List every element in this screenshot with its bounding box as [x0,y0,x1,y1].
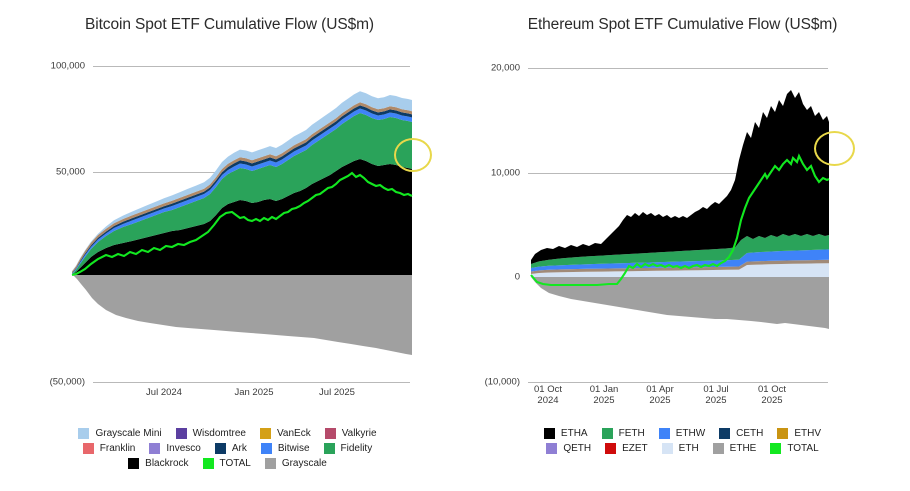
legend-label: ETH [679,443,699,454]
legend-item-ethv[interactable]: ETHV [777,428,821,439]
legend-item-bitwise[interactable]: Bitwise [261,443,310,454]
legend-label: Grayscale Mini [95,428,161,439]
legend-row: Blackrock TOTAL Grayscale [0,458,455,469]
legend-swatch-icon [713,443,724,454]
legend-label: ETHA [561,428,588,439]
x-tick-label: 01 Apr 2025 [646,384,673,406]
x-tick-label: Jul 2025 [319,387,355,398]
legend-label: ETHV [794,428,821,439]
legend-item-ark[interactable]: Ark [215,443,247,454]
legend-item-blackrock[interactable]: Blackrock [128,458,188,469]
legend-swatch-icon [605,443,616,454]
legend-swatch-icon [149,443,160,454]
legend-label: ETHW [676,428,705,439]
legend-label: EZET [622,443,648,454]
legend-item-valkyrie[interactable]: Valkyrie [325,428,377,439]
legend-item-eth[interactable]: ETH [662,443,699,454]
legend-swatch-icon [78,428,89,439]
legend-item-grayscale[interactable]: Grayscale [265,458,327,469]
legend-item-wisdomtree[interactable]: Wisdomtree [176,428,246,439]
legend-swatch-icon [128,458,139,469]
legend-swatch-icon [261,443,272,454]
legend-label: QETH [563,443,591,454]
legend-label: Franklin [100,443,136,454]
legend-row: Grayscale Mini Wisdomtree VanEck Valkyri… [0,428,455,439]
legend-item-ezet[interactable]: EZET [605,443,648,454]
page-title-ethereum: Ethereum Spot ETF Cumulative Flow (US$m) [455,16,910,34]
legend-swatch-icon [544,428,555,439]
legend-label: ETHE [730,443,757,454]
legend-item-qeth[interactable]: QETH [546,443,591,454]
legend-label: Invesco [166,443,200,454]
legend-swatch-icon [83,443,94,454]
legend-swatch-icon [659,428,670,439]
legend-item-fidelity[interactable]: Fidelity [324,443,373,454]
legend-swatch-icon [602,428,613,439]
legend-bitcoin: Grayscale Mini Wisdomtree VanEck Valkyri… [0,428,455,473]
legend-swatch-icon [203,458,214,469]
x-tick-label: Jul 2024 [146,387,182,398]
legend-swatch-icon [324,443,335,454]
legend-swatch-icon [176,428,187,439]
legend-label: Grayscale [282,458,327,469]
legend-item-vaneck[interactable]: VanEck [260,428,311,439]
x-tick-label: 01 Oct 2025 [758,384,786,406]
legend-label: Wisdomtree [193,428,246,439]
dashboard-root: Bitcoin Spot ETF Cumulative Flow (US$m) … [0,0,910,491]
legend-label: Blackrock [145,458,188,469]
legend-label: TOTAL [220,458,251,469]
legend-label: Valkyrie [342,428,377,439]
legend-swatch-icon [546,443,557,454]
legend-swatch-icon [662,443,673,454]
legend-label: VanEck [277,428,311,439]
legend-row: Franklin Invesco Ark Bitwise Fidelity [0,443,455,454]
legend-label: CETH [736,428,763,439]
legend-item-feth[interactable]: FETH [602,428,645,439]
legend-item-etha[interactable]: ETHA [544,428,588,439]
legend-item-total[interactable]: TOTAL [770,443,818,454]
highlight-circle-icon [394,138,432,172]
legend-row: QETH EZET ETH ETHE TOTAL [455,443,910,454]
x-tick-label: 01 Jul 2025 [703,384,728,406]
legend-item-grayscale-mini[interactable]: Grayscale Mini [78,428,161,439]
area-chart-ethereum [503,60,831,390]
chart-panel-ethereum: Ethereum Spot ETF Cumulative Flow (US$m)… [455,0,910,491]
area-chart-bitcoin [68,60,413,390]
legend-swatch-icon [215,443,226,454]
legend-ethereum: ETHA FETH ETHW CETH ETHV [455,428,910,458]
page-title-bitcoin: Bitcoin Spot ETF Cumulative Flow (US$m) [0,16,455,34]
legend-item-total[interactable]: TOTAL [203,458,251,469]
legend-row: ETHA FETH ETHW CETH ETHV [455,428,910,439]
legend-label: FETH [619,428,645,439]
legend-swatch-icon [719,428,730,439]
legend-label: Fidelity [341,443,373,454]
series-area-grayscale [72,275,412,355]
x-tick-label: 01 Oct 2024 [534,384,562,406]
legend-label: Bitwise [278,443,310,454]
legend-swatch-icon [260,428,271,439]
chart-panel-bitcoin: Bitcoin Spot ETF Cumulative Flow (US$m) … [0,0,455,491]
legend-item-franklin[interactable]: Franklin [83,443,136,454]
legend-item-ethw[interactable]: ETHW [659,428,705,439]
highlight-circle-icon [814,131,855,166]
legend-swatch-icon [777,428,788,439]
legend-swatch-icon [265,458,276,469]
legend-item-ceth[interactable]: CETH [719,428,763,439]
legend-label: TOTAL [787,443,818,454]
legend-item-ethe[interactable]: ETHE [713,443,757,454]
x-tick-label: Jan 2025 [234,387,273,398]
x-tick-label: 01 Jan 2025 [590,384,619,406]
legend-swatch-icon [770,443,781,454]
legend-label: Ark [232,443,247,454]
legend-item-invesco[interactable]: Invesco [149,443,200,454]
legend-swatch-icon [325,428,336,439]
